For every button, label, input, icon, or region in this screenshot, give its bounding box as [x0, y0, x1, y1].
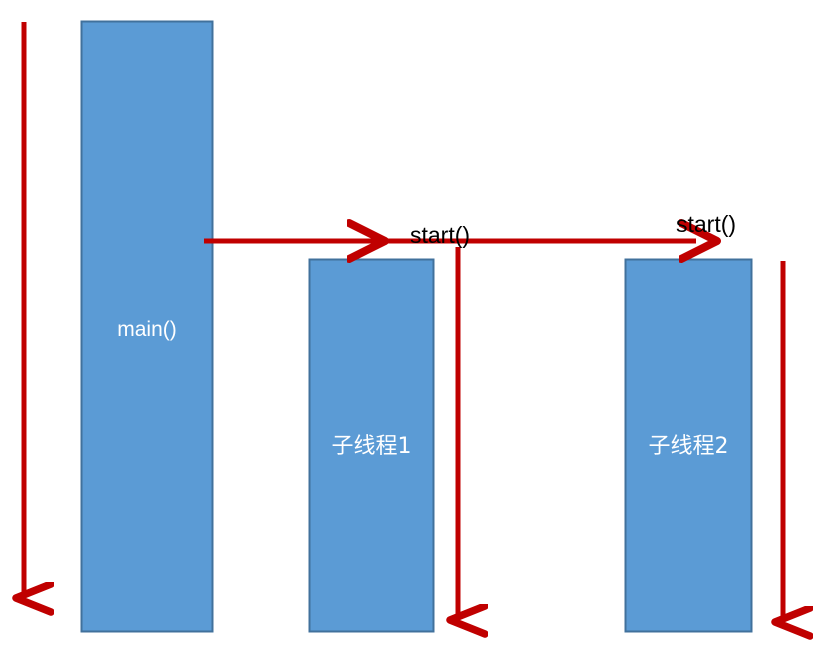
lane-label-child-thread-2: 子线程2 [625, 436, 752, 458]
diagram-canvas: main() 子线程1 子线程2 start() start() [0, 0, 819, 653]
lane-label-child-thread-1: 子线程1 [309, 436, 434, 458]
lane-label-main: main() [81, 319, 213, 340]
call-label-start-1: start() [410, 224, 470, 247]
call-label-start-2: start() [676, 213, 736, 236]
